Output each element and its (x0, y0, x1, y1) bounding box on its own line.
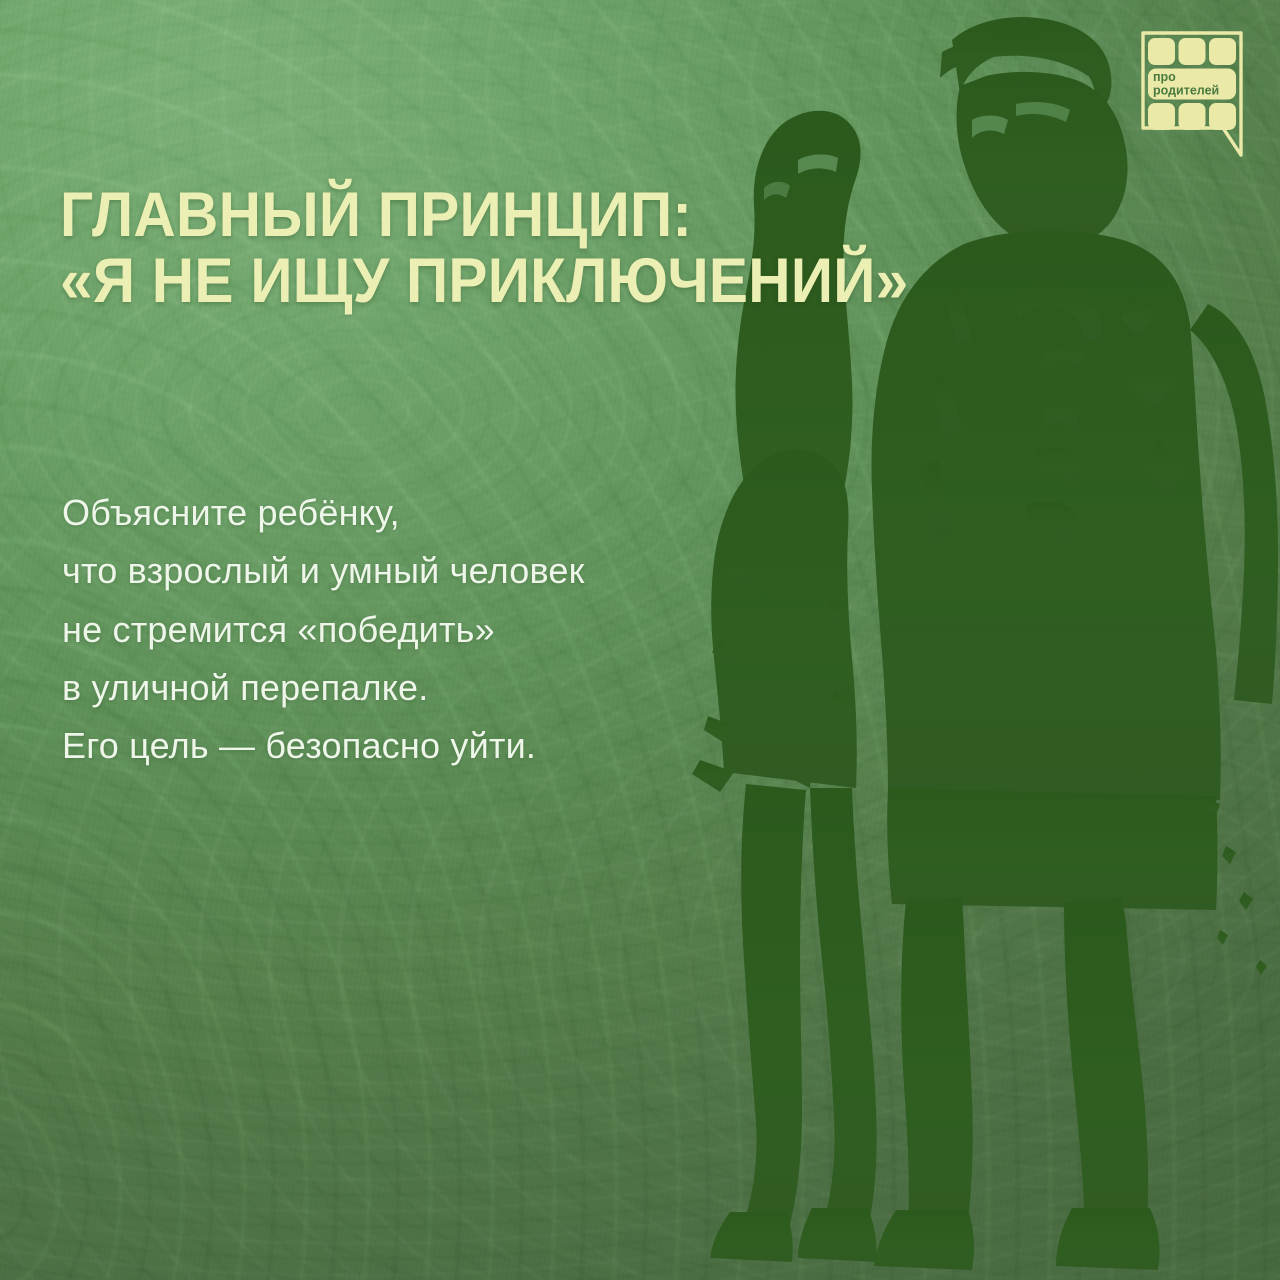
logo-tile-1 (1148, 38, 1175, 65)
logo-tile-3 (1209, 38, 1236, 65)
social-card: ГЛАВНЫЙ ПРИНЦИП: «Я НЕ ИЩУ ПРИКЛЮЧЕНИЙ» … (0, 0, 1280, 1280)
logo-tile-4 (1148, 103, 1175, 130)
body-line-5: Его цель — безопасно уйти. (62, 717, 682, 775)
body-line-4: в уличной перепалке. (62, 659, 682, 717)
logo-tile-5 (1179, 103, 1206, 130)
headline-line-1: ГЛАВНЫЙ ПРИНЦИП: (60, 180, 692, 250)
body-text: Объясните ребёнку, что взрослый и умный … (62, 484, 682, 776)
brand-logo[interactable]: про родителей (1137, 24, 1247, 159)
body-line-2: что взрослый и умный человек (62, 542, 682, 600)
logo-tile-2 (1179, 38, 1206, 65)
logo-tile-6 (1209, 103, 1236, 130)
logo-text-line-2: родителей (1153, 84, 1219, 98)
logo-text-line-1: про (1153, 70, 1176, 84)
body-line-3: не стремится «победить» (62, 601, 682, 659)
figure-person-with-cap (872, 17, 1278, 1270)
page-title: ГЛАВНЫЙ ПРИНЦИП: «Я НЕ ИЩУ ПРИКЛЮЧЕНИЙ» (60, 182, 925, 314)
headline-line-2: «Я НЕ ИЩУ ПРИКЛЮЧЕНИЙ» (60, 248, 925, 314)
body-line-1: Объясните ребёнку, (62, 484, 682, 542)
